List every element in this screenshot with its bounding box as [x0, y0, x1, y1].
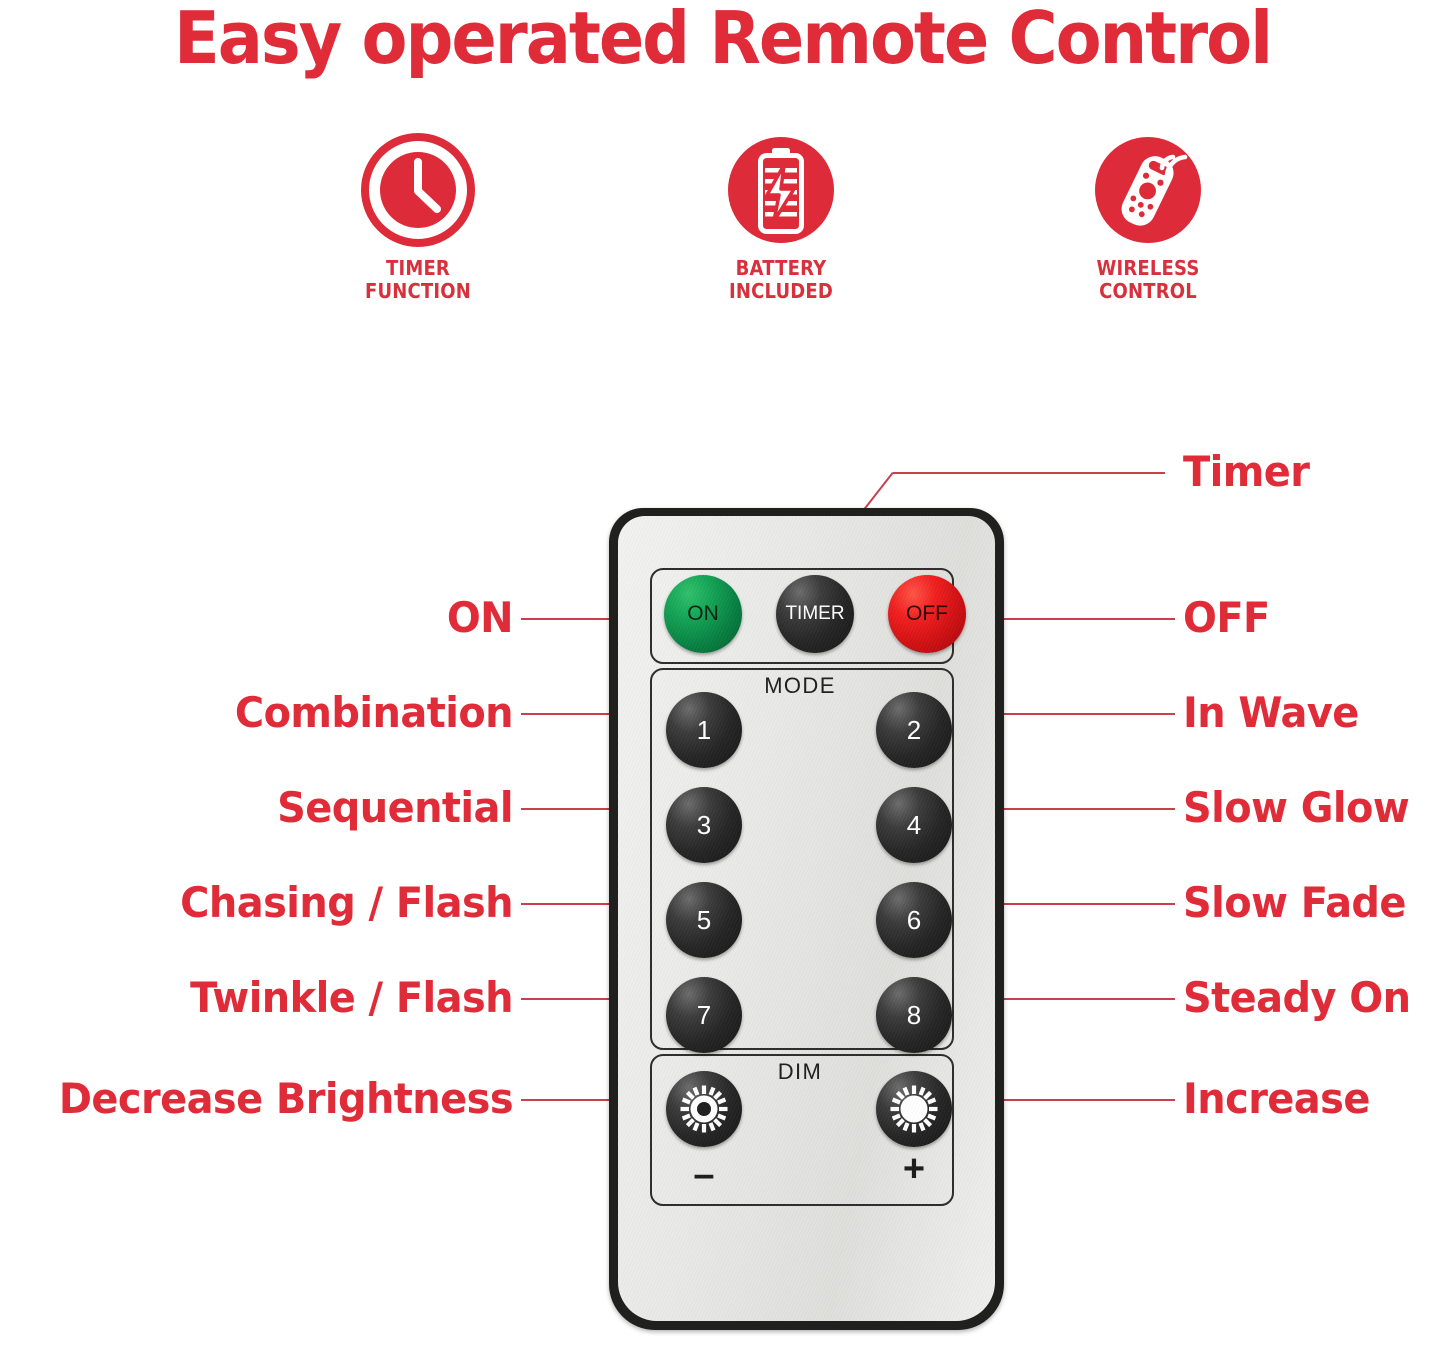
feature-caption: BATTERY INCLUDED	[673, 257, 889, 303]
callout-chasing-flash: Chasing / Flash	[26, 882, 513, 924]
battery-icon	[724, 133, 838, 247]
feature-caption-line2: FUNCTION	[310, 280, 526, 303]
mode-button-4[interactable]: 4	[876, 787, 952, 863]
clock-icon	[361, 133, 475, 247]
feature-battery-included: BATTERY INCLUDED	[661, 133, 901, 303]
on-button[interactable]: ON	[664, 575, 742, 653]
feature-caption: WIRELESS CONTROL	[1040, 257, 1256, 303]
feature-caption-line2: CONTROL	[1040, 280, 1256, 303]
dim-plus-label: +	[876, 1150, 952, 1188]
callout-twinkle-flash: Twinkle / Flash	[26, 977, 513, 1019]
mode-button-8[interactable]: 8	[876, 977, 952, 1053]
callout-sequential: Sequential	[26, 787, 513, 829]
sun-hollow-icon	[676, 1081, 732, 1137]
leader-increase	[980, 1099, 1175, 1101]
feature-caption-line1: TIMER	[310, 257, 526, 280]
callout-steady-on: Steady On	[1183, 977, 1410, 1019]
leader-timer-horizontal	[893, 472, 1165, 474]
remote-icon	[1091, 133, 1205, 247]
increase-brightness-button[interactable]	[876, 1071, 952, 1147]
timer-button[interactable]: TIMER	[776, 575, 854, 653]
dim-minus-label: –	[666, 1156, 742, 1194]
mode-button-3[interactable]: 3	[666, 787, 742, 863]
remote-control-device: MODE DIM ON TIMER OFF 1 2 3 4 5 6 7 8	[609, 508, 1004, 1330]
off-button[interactable]: OFF	[888, 575, 966, 653]
callout-increase: Increase	[1183, 1078, 1370, 1120]
feature-caption: TIMER FUNCTION	[310, 257, 526, 303]
mode-button-1[interactable]: 1	[666, 692, 742, 768]
mode-button-7[interactable]: 7	[666, 977, 742, 1053]
feature-caption-line1: BATTERY	[673, 257, 889, 280]
feature-caption-line2: INCLUDED	[673, 280, 889, 303]
mode-button-6[interactable]: 6	[876, 882, 952, 958]
callout-off: OFF	[1183, 597, 1270, 639]
decrease-brightness-button[interactable]	[666, 1071, 742, 1147]
feature-caption-line1: WIRELESS	[1040, 257, 1256, 280]
callout-timer: Timer	[1183, 451, 1309, 493]
remote-faceplate: MODE DIM ON TIMER OFF 1 2 3 4 5 6 7 8	[618, 516, 995, 1321]
callout-decrease-brightness: Decrease Brightness	[26, 1078, 513, 1120]
page-title: Easy operated Remote Control	[51, 0, 1395, 80]
product-infographic: Easy operated Remote Control TIMER FUNCT…	[0, 0, 1445, 1351]
callout-in-wave: In Wave	[1183, 692, 1359, 734]
mode-button-5[interactable]: 5	[666, 882, 742, 958]
feature-wireless-control: WIRELESS CONTROL	[1028, 133, 1268, 303]
sun-solid-icon	[886, 1081, 942, 1137]
feature-timer-function: TIMER FUNCTION	[298, 133, 538, 303]
callout-slow-fade: Slow Fade	[1183, 882, 1406, 924]
callout-slow-glow: Slow Glow	[1183, 787, 1409, 829]
callout-combination: Combination	[26, 692, 513, 734]
mode-button-2[interactable]: 2	[876, 692, 952, 768]
callout-on: ON	[26, 597, 513, 639]
